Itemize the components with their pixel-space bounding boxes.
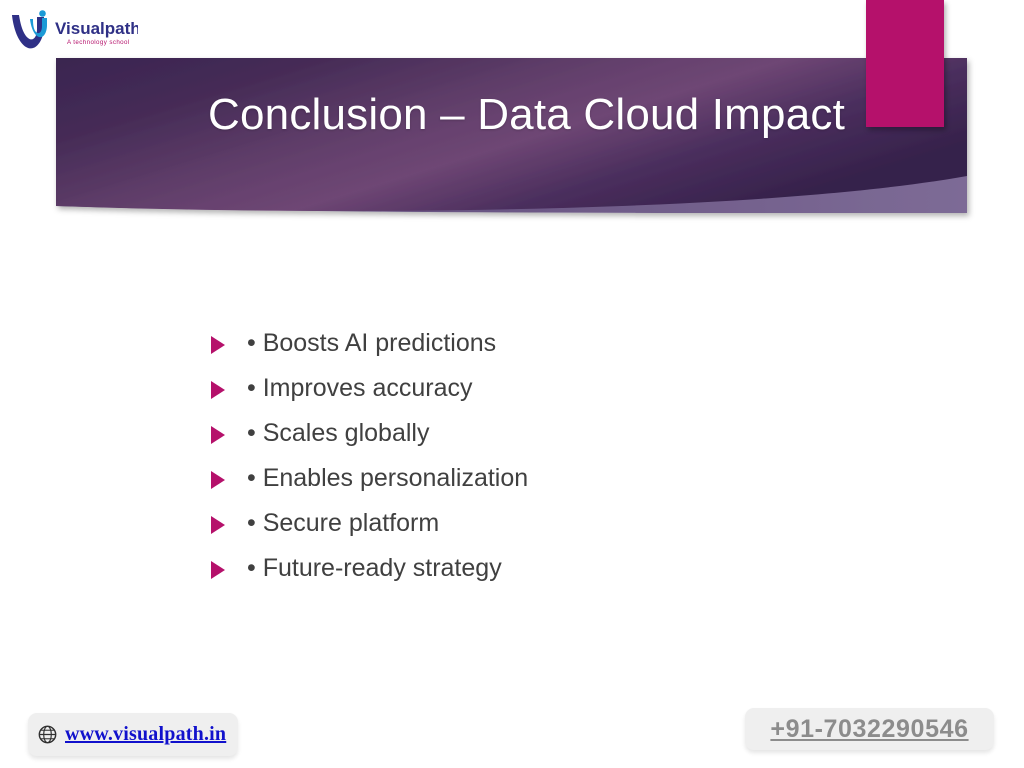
page-title: Conclusion – Data Cloud Impact: [208, 88, 848, 142]
list-item-label: • Future-ready strategy: [247, 551, 502, 585]
slide-canvas: Conclusion – Data Cloud Impact Visualpat…: [0, 0, 1024, 768]
triangle-bullet-icon: [205, 461, 247, 497]
logo-tagline: A technology school: [67, 39, 130, 46]
list-item-label: • Scales globally: [247, 416, 429, 450]
visualpath-logo: Visualpath A technology school: [8, 9, 138, 55]
list-item: • Scales globally: [205, 416, 925, 461]
triangle-bullet-icon: [205, 326, 247, 362]
logo-dot-icon: [39, 10, 46, 17]
list-item-label: • Boosts AI predictions: [247, 326, 496, 360]
list-item-label: • Improves accuracy: [247, 371, 473, 405]
phone-number-label[interactable]: +91-7032290546: [770, 715, 968, 744]
triangle-bullet-icon: [205, 551, 247, 587]
list-item: • Enables personalization: [205, 461, 925, 506]
list-item-label: • Enables personalization: [247, 461, 528, 495]
list-item-label: • Secure platform: [247, 506, 439, 540]
list-item: • Improves accuracy: [205, 371, 925, 416]
list-item: • Secure platform: [205, 506, 925, 551]
triangle-bullet-icon: [205, 506, 247, 542]
website-link-label[interactable]: www.visualpath.in: [65, 723, 226, 746]
logo-wordmark: Visualpath: [55, 19, 138, 38]
list-item: • Boosts AI predictions: [205, 326, 925, 371]
bullet-list: • Boosts AI predictions • Improves accur…: [205, 326, 925, 596]
logo-v-shape: [12, 15, 44, 48]
website-link-pill[interactable]: www.visualpath.in: [28, 713, 238, 756]
phone-number-pill[interactable]: +91-7032290546: [745, 708, 994, 750]
triangle-bullet-icon: [205, 416, 247, 452]
triangle-bullet-icon: [205, 371, 247, 407]
globe-icon: [38, 725, 57, 744]
list-item: • Future-ready strategy: [205, 551, 925, 596]
magenta-accent-block: [866, 0, 944, 127]
